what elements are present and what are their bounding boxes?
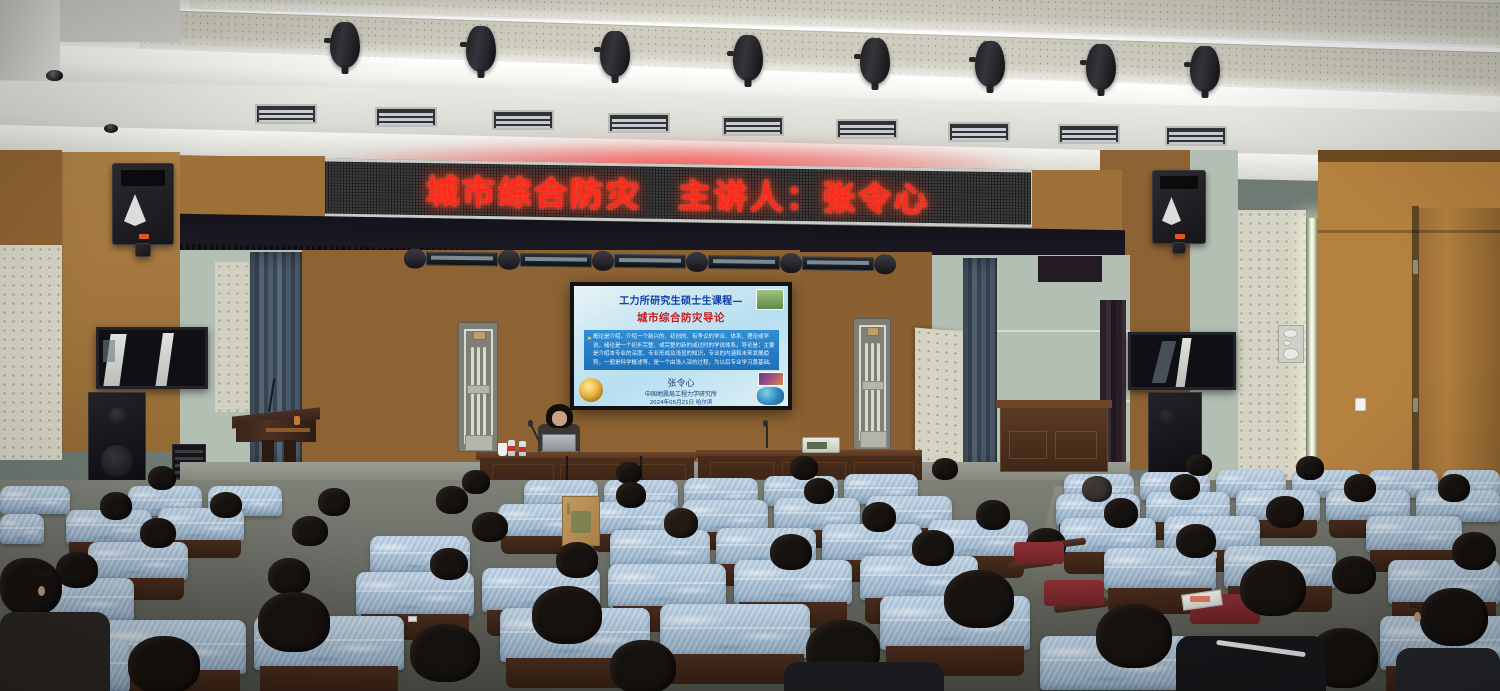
audience-head [932, 458, 958, 480]
cardboard-box [562, 496, 600, 546]
audience-head [1344, 474, 1376, 502]
par-light [498, 249, 520, 269]
seat[interactable] [0, 486, 70, 514]
audience-head [210, 492, 242, 518]
audience-head [56, 552, 98, 588]
hvac-vent [255, 104, 317, 124]
audience-shoulder [784, 662, 944, 691]
slide-earth-cutaway-image [579, 378, 603, 402]
hvac-vent [492, 110, 554, 130]
audience-head [944, 570, 1014, 628]
speaker-horn [124, 194, 146, 226]
paper-cup [498, 443, 507, 456]
seat[interactable] [608, 564, 726, 608]
audience-ear [38, 586, 45, 596]
audience-head [140, 518, 176, 548]
audience-head [472, 512, 508, 542]
audience-head [770, 534, 812, 570]
radiator-alcove-right [853, 318, 891, 450]
table-microphone-head [763, 420, 768, 427]
light-fixture [802, 256, 874, 271]
audience-head [436, 486, 468, 514]
light-fixture [614, 254, 686, 269]
audience-head [1096, 604, 1172, 668]
projection-screen: 工力所研究生硕士生课程— 城市综合防灾导论 ➤ 概论是介绍，介绍一个新兴的、初创… [574, 286, 788, 406]
stage-spotlight-ceiling [1190, 46, 1220, 92]
hvac-vent [948, 122, 1010, 142]
wall-speaker [1278, 325, 1304, 363]
slide-image-bottom-right [758, 372, 784, 386]
par-light [404, 248, 426, 268]
slide-bullet-icon: ➤ [587, 334, 592, 343]
perforated-panel-stage-left [215, 262, 249, 412]
audience-head [556, 542, 598, 578]
audience-head-profile [0, 558, 62, 616]
light-fixture [520, 253, 592, 268]
seat[interactable] [88, 542, 188, 580]
tv-screen-reflection [155, 333, 174, 389]
perforated-acoustic-panel-left [0, 245, 62, 460]
stage-spotlight-ceiling [466, 26, 496, 72]
projection-screen-frame: 工力所研究生硕士生课程— 城市综合防灾导论 ➤ 概论是介绍，介绍一个新兴的、初创… [570, 282, 792, 410]
audience-head [1186, 454, 1212, 476]
audience-head [790, 456, 818, 480]
seat[interactable] [610, 530, 710, 568]
jbl-speaker-mount [135, 243, 151, 257]
audience-head [318, 488, 350, 516]
tv-screen-reflection [1152, 341, 1176, 383]
audience-head [462, 470, 490, 494]
audience-shoulder [1396, 648, 1500, 691]
slide-institute: 中国地震局工程力学研究所 [574, 389, 788, 398]
audience-head [616, 462, 642, 484]
audience-head [610, 640, 676, 691]
audience-head [1176, 524, 1216, 558]
seat-cushion [1044, 580, 1104, 606]
podium-knob [294, 416, 300, 425]
stage-curtain-right [963, 258, 997, 470]
dome-camera-icon [104, 124, 118, 133]
audience-head [410, 624, 480, 682]
door-hinge [1413, 260, 1418, 274]
hvac-vent [608, 113, 670, 133]
audience-shoulder [0, 612, 110, 691]
speaker-horn [1162, 197, 1181, 225]
jbl-speaker-left [112, 163, 174, 245]
par-light [874, 254, 896, 274]
stage-spotlight-ceiling [330, 22, 360, 68]
audience-head [1104, 498, 1138, 528]
stage-spotlight-ceiling [860, 38, 890, 84]
jbl-logo [139, 234, 149, 239]
jbl-speaker-mount [1172, 242, 1186, 254]
seat-cushion [1014, 542, 1064, 564]
audience-head [292, 516, 328, 546]
wall-light-strip [1306, 218, 1318, 480]
audience-head [862, 502, 896, 532]
presenter-microphone-head [528, 420, 533, 427]
audience-head [1240, 560, 1306, 616]
slide-image-top-right [756, 289, 784, 310]
par-light [686, 252, 708, 272]
door-frame [1412, 206, 1419, 490]
audience-ear [1414, 612, 1421, 622]
audience-head [976, 500, 1010, 530]
led-banner-text: 城市综合防灾 主讲人：张令心 [426, 165, 930, 221]
hvac-vent [1058, 124, 1120, 144]
audience-head [1452, 532, 1496, 570]
slide-world-map-image [757, 387, 784, 405]
audience-head [912, 530, 954, 566]
audience-head [1296, 456, 1324, 480]
audience-head [258, 592, 330, 652]
seat[interactable] [660, 604, 810, 658]
curtain-header [1038, 256, 1102, 282]
audience-head [1170, 474, 1200, 500]
seat[interactable] [1366, 516, 1462, 552]
audience-head [1332, 556, 1376, 594]
hvac-vent [1165, 126, 1227, 146]
slide-body-paragraph: 概论是介绍，介绍一个新兴的、初创的、有争议的学派、体系、理论或学说。绪论是一个初… [593, 334, 775, 366]
side-cabinet-right [1000, 406, 1108, 472]
radiator-valve [867, 327, 879, 336]
slide-signature: 张令心 [574, 376, 788, 389]
door-hinge [1413, 398, 1418, 412]
lecture-hall-photo: 城市综合防灾 主讲人：张令心 [0, 0, 1500, 691]
floor-speaker-left [88, 392, 146, 484]
water-bottle [519, 441, 526, 456]
audience-head [1420, 588, 1488, 646]
audience-head [128, 636, 200, 691]
dome-camera-icon [46, 70, 63, 81]
seat[interactable] [0, 514, 44, 544]
jbl-logo [1175, 234, 1185, 239]
audience-head [430, 548, 468, 580]
tv-monitor-left [96, 327, 208, 389]
audience-head [804, 478, 834, 504]
stage-spotlight-ceiling [975, 41, 1005, 87]
jbl-speaker-right [1152, 170, 1206, 244]
audience-head [616, 482, 646, 508]
audience-head [100, 492, 132, 520]
radiator-alcove-left [458, 322, 498, 452]
audience-head [532, 586, 602, 644]
tv-monitor-right [1128, 332, 1236, 390]
paper-graphic [1190, 596, 1210, 602]
slide-body-text: ➤ 概论是介绍，介绍一个新兴的、初创的、有争议的学派、体系、理论或学说。绪论是一… [584, 330, 779, 370]
stage-spotlight-ceiling [733, 35, 763, 81]
desk-device [802, 437, 840, 453]
cabinet-top [996, 400, 1112, 408]
tv-screen-reflection [103, 340, 115, 362]
par-light [592, 251, 614, 271]
audience-head [1266, 496, 1304, 528]
stage-spotlight-ceiling [1086, 44, 1116, 90]
water-bottle [508, 440, 515, 456]
slide-date-location: 2024年05月21日 哈尔滨 [574, 398, 788, 406]
audience-head [1082, 476, 1112, 502]
podium-accent-strip [266, 428, 310, 432]
slide-title-line2: 城市综合防灾导论 [574, 310, 788, 325]
par-light [780, 253, 802, 273]
light-fixture [426, 252, 498, 267]
audience-head [268, 558, 310, 594]
hvac-vent [375, 107, 437, 127]
presenter-face [552, 411, 567, 426]
door[interactable] [1418, 208, 1500, 490]
radiator-valve [473, 331, 486, 340]
audience-head [664, 508, 698, 538]
hvac-vent [836, 119, 898, 139]
wall-switch[interactable] [1355, 398, 1366, 411]
audience-head [148, 466, 176, 490]
tv-screen-reflection [1175, 338, 1191, 388]
light-fixture [708, 255, 780, 270]
audience-head [1438, 474, 1470, 502]
table-microphone-right [766, 426, 768, 448]
hvac-vent [722, 116, 784, 136]
stage-spotlight-ceiling [600, 31, 630, 77]
